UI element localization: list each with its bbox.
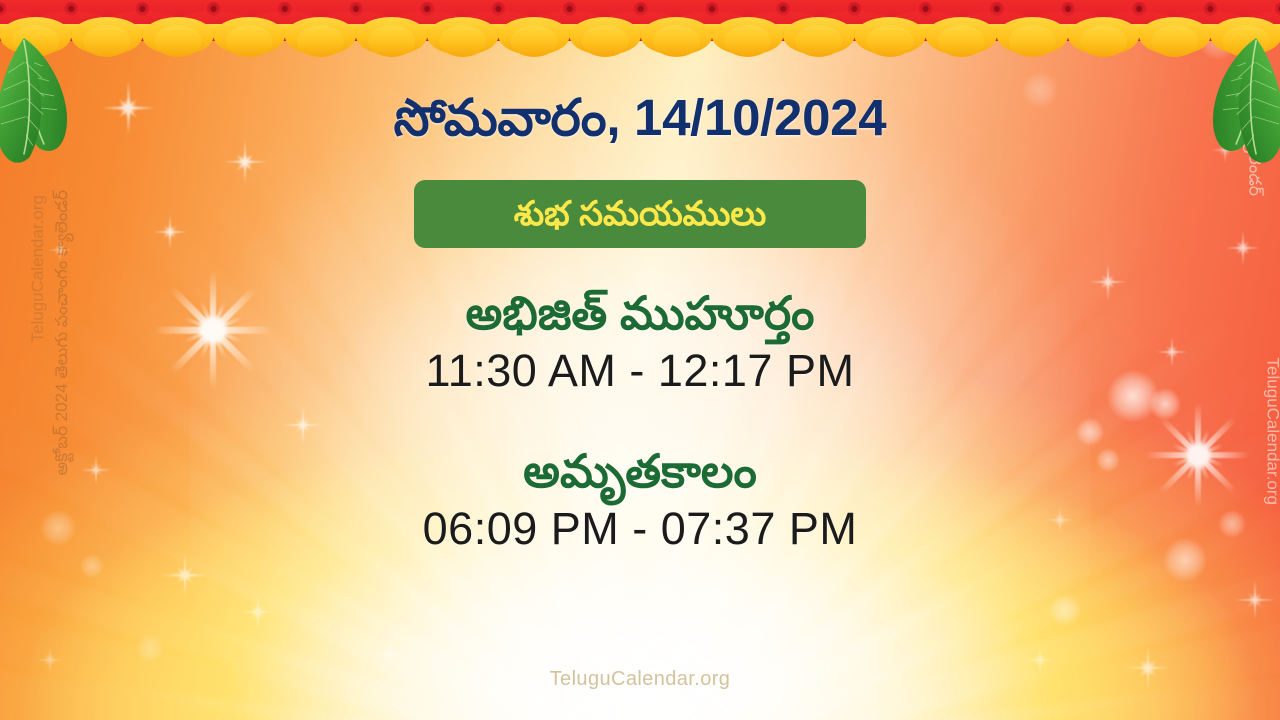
auspicious-time-range: 11:30 AM - 12:17 PM [0, 343, 1280, 399]
auspicious-time-name: అమృతకాలం [0, 443, 1280, 501]
page-title: సోమవారం, 14/10/2024 [0, 88, 1280, 160]
auspicious-time-name: అభిజిత్ ముహూర్తం [0, 285, 1280, 343]
auspicious-time-entry-1: అభిజిత్ ముహూర్తం 11:30 AM - 12:17 PM [0, 285, 1280, 399]
marigold-garland [0, 0, 1280, 58]
auspicious-time-range: 06:09 PM - 07:37 PM [0, 501, 1280, 557]
auspicious-time-entry-2: అమృతకాలం 06:09 PM - 07:37 PM [0, 443, 1280, 557]
banner-label: శుభ సమయములు [514, 197, 767, 231]
calendar-card: సోమవారం, 14/10/2024 శుభ సమయములు అభిజిత్ … [0, 0, 1280, 720]
bottom-watermark: TeluguCalendar.org [0, 668, 1280, 691]
auspicious-times-banner: శుభ సమయములు [414, 180, 866, 248]
